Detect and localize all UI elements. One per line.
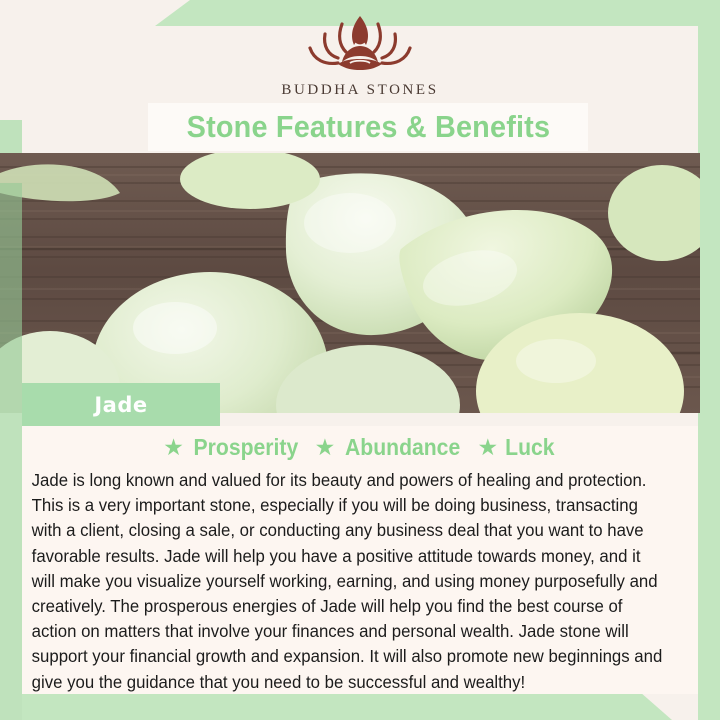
stone-name-label: Jade <box>94 393 147 417</box>
benefit-item-prosperity: ★ Prosperity <box>163 434 302 461</box>
jade-stones-image <box>0 153 700 413</box>
infographic-page: BUDDHA STONES Stone Features & Benefits <box>0 0 720 720</box>
brand-logo: BUDDHA STONES <box>0 8 720 112</box>
benefits-row: ★ Prosperity ★ Abundance ★ Luck <box>22 430 698 464</box>
stone-photo <box>0 153 700 413</box>
benefit-label: Prosperity <box>193 434 298 461</box>
benefit-label: Luck <box>505 434 554 461</box>
stone-name-band: Jade <box>22 383 220 426</box>
description-card: ★ Prosperity ★ Abundance ★ Luck Jade is … <box>22 426 698 694</box>
photo-left-accent-strip <box>0 183 22 413</box>
star-icon: ★ <box>315 436 336 459</box>
lotus-meditation-figure-icon <box>294 8 426 80</box>
benefit-item-abundance: ★ Abundance <box>315 434 466 461</box>
brand-name: BUDDHA STONES <box>281 82 438 99</box>
star-icon: ★ <box>477 436 498 459</box>
benefit-item-luck: ★ Luck <box>477 434 556 461</box>
title-banner: Stone Features & Benefits <box>148 103 588 151</box>
stone-description: Jade is long known and valued for its be… <box>22 468 674 695</box>
page-title: Stone Features & Benefits <box>186 109 550 145</box>
decorative-bottom-band <box>0 692 720 720</box>
star-icon: ★ <box>163 436 184 459</box>
benefit-label: Abundance <box>345 434 460 461</box>
